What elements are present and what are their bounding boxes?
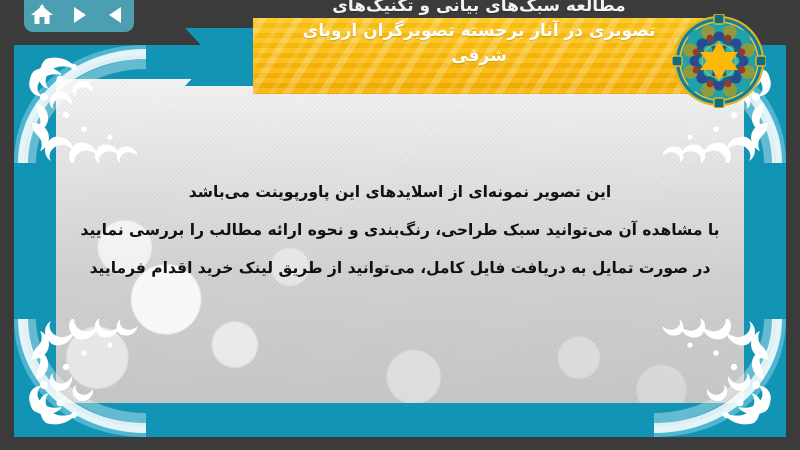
slide-frame: این تصویر نمونه‌ای از اسلایدهای این پاور… xyxy=(14,45,786,437)
home-icon xyxy=(30,4,54,26)
title-line-3: شرقی xyxy=(253,44,705,69)
triangle-left-icon xyxy=(105,5,127,25)
body-line-2: با مشاهده آن می‌توانید سبک طراحی، رنگ‌بن… xyxy=(74,211,726,249)
title-line-2: تصویری در آثار برجسته تصویرگران اروپای xyxy=(253,19,705,44)
slide-navigation-bar[interactable] xyxy=(24,0,134,32)
home-button[interactable] xyxy=(28,2,56,28)
persian-medallion-icon xyxy=(672,14,766,108)
slide-body-text: این تصویر نمونه‌ای از اسلایدهای این پاور… xyxy=(56,173,744,287)
triangle-right-icon xyxy=(68,5,90,25)
slide-viewer: این تصویر نمونه‌ای از اسلایدهای این پاور… xyxy=(0,0,800,450)
title-line-1: مطالعه سبک‌های بیانی و تکنیک‌های xyxy=(253,0,705,19)
forward-button[interactable] xyxy=(65,2,93,28)
body-line-3: در صورت تمایل به دریافت فایل کامل، می‌تو… xyxy=(74,249,726,287)
back-button[interactable] xyxy=(102,2,130,28)
title-ribbon: مطالعه سبک‌های بیانی و تکنیک‌های تصویری … xyxy=(185,18,715,94)
page-title: مطالعه سبک‌های بیانی و تکنیک‌های تصویری … xyxy=(253,0,705,69)
body-line-1: این تصویر نمونه‌ای از اسلایدهای این پاور… xyxy=(74,173,726,211)
